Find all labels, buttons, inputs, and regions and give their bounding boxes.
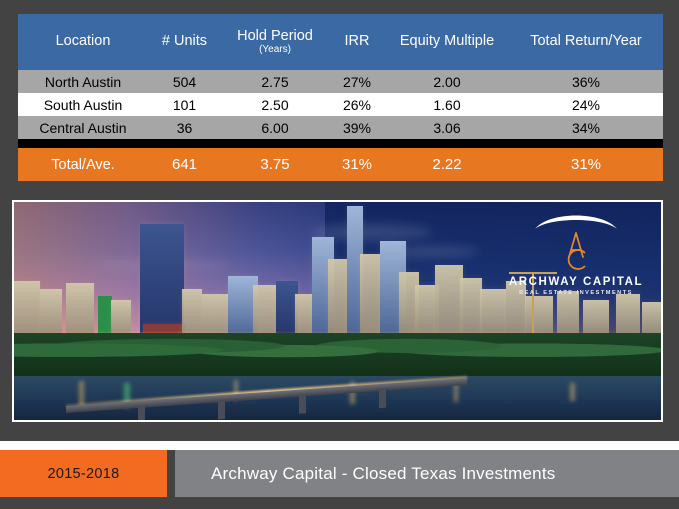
cell-location: South Austin xyxy=(18,93,148,116)
column-header-location: Location xyxy=(18,14,148,70)
column-header-irr: IRR xyxy=(329,14,385,70)
cell-total-return: 34% xyxy=(509,116,663,139)
table-separator xyxy=(18,139,663,148)
cell-total-total-return: 31% xyxy=(509,148,663,181)
table-header: Location # Units Hold Period (Years) IRR… xyxy=(18,14,663,70)
column-header-hold-period-label: Hold Period xyxy=(237,28,313,44)
table-body: North Austin 504 2.75 27% 2.00 36% South… xyxy=(18,70,663,148)
table-total-row: Total/Ave. 641 3.75 31% 2.22 31% xyxy=(18,148,663,181)
bridge-pier xyxy=(138,406,145,420)
table-header-row: Location # Units Hold Period (Years) IRR… xyxy=(18,14,663,70)
column-header-equity-multiple-label: Equity Multiple xyxy=(400,33,494,49)
cell-hold-period: 2.75 xyxy=(221,70,329,93)
column-header-units-label: # Units xyxy=(162,33,207,49)
arch-swoosh-icon xyxy=(501,210,651,230)
tree-line xyxy=(14,333,661,377)
building xyxy=(557,291,579,337)
ac-monogram-icon xyxy=(501,228,651,274)
cell-location: Central Austin xyxy=(18,116,148,139)
column-header-hold-period-unit: (Years) xyxy=(221,45,329,56)
bridge-pier xyxy=(218,401,225,419)
logo-tagline: REAL ESTATE INVESTMENTS xyxy=(501,290,651,296)
building xyxy=(583,300,609,337)
cell-irr: 26% xyxy=(329,93,385,116)
building xyxy=(480,289,506,337)
table-row: South Austin 101 2.50 26% 1.60 24% xyxy=(18,93,663,116)
footer-white-divider xyxy=(0,441,679,450)
table-separator-cell xyxy=(18,139,663,148)
skyline-photo: ARCHWAY CAPITAL REAL ESTATE INVESTMENTS xyxy=(14,202,661,420)
cell-total-irr: 31% xyxy=(329,148,385,181)
cell-hold-period: 6.00 xyxy=(221,116,329,139)
cell-total-hold-period: 3.75 xyxy=(221,148,329,181)
logo-company-name: ARCHWAY CAPITAL xyxy=(501,276,651,288)
cell-total-label: Total/Ave. xyxy=(18,148,148,181)
column-header-equity-multiple: Equity Multiple xyxy=(385,14,509,70)
building xyxy=(98,296,112,337)
column-header-irr-label: IRR xyxy=(345,33,370,49)
table-footer: Total/Ave. 641 3.75 31% 2.22 31% xyxy=(18,148,663,181)
performance-table-container: Location # Units Hold Period (Years) IRR… xyxy=(18,14,663,181)
cell-total-return: 24% xyxy=(509,93,663,116)
cell-total-units: 641 xyxy=(148,148,221,181)
cell-irr: 39% xyxy=(329,116,385,139)
building xyxy=(435,265,463,337)
cell-location: North Austin xyxy=(18,70,148,93)
cell-units: 101 xyxy=(148,93,221,116)
cell-irr: 27% xyxy=(329,70,385,93)
building xyxy=(14,281,40,338)
archway-capital-logo: ARCHWAY CAPITAL REAL ESTATE INVESTMENTS xyxy=(501,210,651,296)
building xyxy=(40,289,62,337)
table-row: North Austin 504 2.75 27% 2.00 36% xyxy=(18,70,663,93)
column-header-units: # Units xyxy=(148,14,221,70)
cell-hold-period: 2.50 xyxy=(221,93,329,116)
column-header-total-return-label: Total Return/Year xyxy=(530,33,642,49)
cell-equity-multiple: 1.60 xyxy=(385,93,509,116)
building xyxy=(253,285,277,337)
cell-units: 504 xyxy=(148,70,221,93)
bridge-pier xyxy=(379,390,386,408)
cell-total-equity-multiple: 2.22 xyxy=(385,148,509,181)
cell-equity-multiple: 2.00 xyxy=(385,70,509,93)
column-header-location-label: Location xyxy=(56,33,111,49)
performance-table: Location # Units Hold Period (Years) IRR… xyxy=(18,14,663,181)
water-reflection xyxy=(570,383,575,400)
building xyxy=(66,283,94,338)
column-header-hold-period: Hold Period (Years) xyxy=(221,14,329,70)
column-header-total-return: Total Return/Year xyxy=(509,14,663,70)
footer-title-bar: Archway Capital - Closed Texas Investmen… xyxy=(175,450,679,497)
footer-year-badge: 2015-2018 xyxy=(0,450,167,497)
table-row: Central Austin 36 6.00 39% 3.06 34% xyxy=(18,116,663,139)
cell-equity-multiple: 3.06 xyxy=(385,116,509,139)
cell-total-return: 36% xyxy=(509,70,663,93)
building xyxy=(182,289,202,337)
skyline-photo-frame: ARCHWAY CAPITAL REAL ESTATE INVESTMENTS xyxy=(12,200,663,422)
building xyxy=(202,294,228,338)
cell-units: 36 xyxy=(148,116,221,139)
building xyxy=(525,296,553,337)
footer-title: Archway Capital - Closed Texas Investmen… xyxy=(211,464,555,484)
footer-year-label: 2015-2018 xyxy=(47,466,119,482)
bridge-pier xyxy=(298,395,305,413)
building xyxy=(616,294,640,338)
building xyxy=(111,300,131,337)
building-tower xyxy=(140,224,184,337)
